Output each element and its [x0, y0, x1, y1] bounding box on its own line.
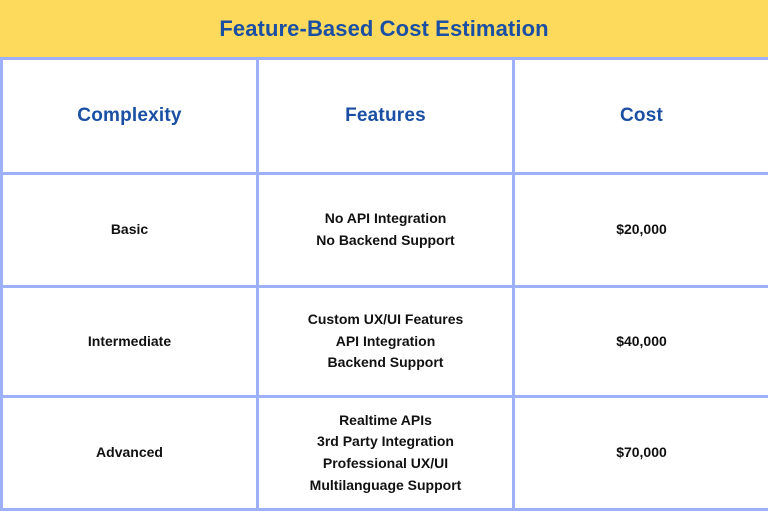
cell-complexity: Basic — [2, 174, 258, 287]
feature-item: Backend Support — [265, 352, 506, 374]
table-container: Complexity Features Cost Basic No API In… — [0, 57, 768, 512]
cell-features: Custom UX/UI Features API Integration Ba… — [258, 287, 514, 397]
feature-item: Professional UX/UI — [265, 453, 506, 475]
table-header-row: Complexity Features Cost — [2, 59, 768, 174]
cell-cost: $70,000 — [514, 397, 768, 510]
cell-cost: $40,000 — [514, 287, 768, 397]
cell-features: Realtime APIs 3rd Party Integration Prof… — [258, 397, 514, 510]
page-title: Feature-Based Cost Estimation — [219, 18, 548, 40]
table-body: Basic No API Integration No Backend Supp… — [2, 174, 768, 510]
table-row: Intermediate Custom UX/UI Features API I… — [2, 287, 768, 397]
cost-estimation-table-page: Feature-Based Cost Estimation Complexity… — [0, 0, 768, 512]
table-row: Advanced Realtime APIs 3rd Party Integra… — [2, 397, 768, 510]
feature-item: API Integration — [265, 331, 506, 353]
column-header-complexity: Complexity — [2, 59, 258, 174]
feature-item: Realtime APIs — [265, 410, 506, 432]
column-header-cost: Cost — [514, 59, 768, 174]
cell-features: No API Integration No Backend Support — [258, 174, 514, 287]
feature-item: No Backend Support — [265, 230, 506, 252]
feature-item: No API Integration — [265, 208, 506, 230]
cost-estimation-table: Complexity Features Cost Basic No API In… — [0, 57, 768, 511]
title-banner: Feature-Based Cost Estimation — [0, 0, 768, 57]
table-row: Basic No API Integration No Backend Supp… — [2, 174, 768, 287]
feature-item: 3rd Party Integration — [265, 431, 506, 453]
cell-complexity: Advanced — [2, 397, 258, 510]
table-header: Complexity Features Cost — [2, 59, 768, 174]
cell-cost: $20,000 — [514, 174, 768, 287]
feature-item: Multilanguage Support — [265, 475, 506, 497]
cell-complexity: Intermediate — [2, 287, 258, 397]
column-header-features: Features — [258, 59, 514, 174]
feature-item: Custom UX/UI Features — [265, 309, 506, 331]
